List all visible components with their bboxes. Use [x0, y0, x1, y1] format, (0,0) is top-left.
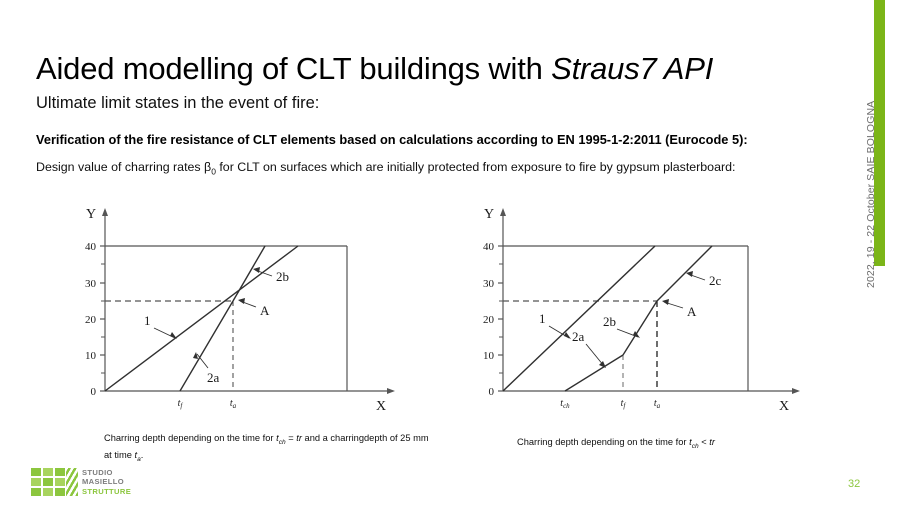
- charring-rate-statement-b: for CLT on surfaces which are initially …: [216, 160, 736, 174]
- caption-left-b: =: [286, 433, 297, 443]
- logo-tile: [43, 468, 53, 476]
- y-axis-label: Y: [484, 207, 494, 222]
- leader-series-2a: [197, 354, 208, 368]
- leader-arrow-2b: [253, 267, 260, 273]
- caption-right-b: <: [699, 437, 710, 447]
- page-number: 32: [848, 478, 860, 490]
- caption-right-t1sub: ch: [692, 443, 699, 450]
- logo-line-1: STUDIO: [82, 468, 131, 477]
- x-tick-label-tch: tch: [560, 398, 570, 410]
- caption-right-a: Charring depth depending on the time for: [517, 437, 689, 447]
- caption-left-c: and a charring: [302, 433, 364, 443]
- series-label-2a: 2a: [207, 370, 220, 385]
- logo-tile: [55, 488, 65, 496]
- logo-tile: [55, 468, 65, 476]
- y-tick-label-10: 10: [483, 350, 495, 362]
- series-label-2b: 2b: [603, 314, 616, 329]
- leader-arrow-1: [564, 332, 571, 339]
- leader-arrow-A: [662, 299, 669, 305]
- figure-right-caption: Charring depth depending on the time for…: [517, 436, 847, 453]
- y-tick-label-0: 0: [489, 386, 495, 398]
- x-axis-label: X: [376, 399, 386, 414]
- series-2b-line: [233, 246, 265, 301]
- logo-hatch-icon: [66, 468, 78, 496]
- verification-statement: Verification of the fire resistance of C…: [36, 132, 748, 147]
- y-tick-label-30: 30: [85, 278, 97, 290]
- y-tick-label-20: 20: [483, 314, 495, 326]
- caption-left-e: .: [141, 450, 144, 460]
- series-2b-line: [623, 301, 657, 355]
- x-axis-arrow: [792, 388, 800, 394]
- caption-left-t1sub: ch: [279, 439, 286, 446]
- event-side-caption: 2022, 19 - 22 October SAIE BOLOGNA: [865, 88, 877, 288]
- annotation-label-A: A: [687, 304, 697, 319]
- logo-tile: [43, 478, 53, 486]
- series-label-1: 1: [144, 313, 151, 328]
- y-axis-arrow: [102, 208, 108, 216]
- logo-line-2: MASIELLO: [82, 477, 131, 486]
- y-tick-label-10: 10: [85, 350, 97, 362]
- x-axis-arrow: [387, 388, 395, 394]
- figure-left-caption: Charring depth depending on the time for…: [104, 432, 434, 466]
- leader-arrow-A: [238, 298, 245, 304]
- charring-rate-statement: Design value of charring rates β0 for CL…: [36, 160, 735, 176]
- series-label-2b: 2b: [276, 269, 289, 284]
- y-tick-label-30: 30: [483, 278, 495, 290]
- page-title: Aided modelling of CLT buildings with St…: [36, 51, 713, 87]
- leader-arrow-1: [170, 332, 177, 339]
- x-tick-label-tf: tf: [621, 398, 627, 410]
- logo-line-3: STRUTTURE: [82, 487, 131, 496]
- y-axis-arrow: [500, 208, 506, 216]
- x-tick-label-ta: ta: [230, 398, 237, 410]
- chart-left-svg: 0 10 20 30 40 Y X tf ta: [60, 196, 400, 426]
- charring-rate-statement-a: Design value of charring rates β: [36, 160, 211, 174]
- leader-arrow-2a: [193, 352, 198, 359]
- series-label-2a: 2a: [572, 329, 585, 344]
- series-label-2c: 2c: [709, 273, 722, 288]
- caption-left-a: Charring depth depending on the time for: [104, 433, 276, 443]
- page-title-italic: Straus7 API: [551, 51, 713, 86]
- figure-right: 0 10 20 30 40 Y X tch tf: [455, 196, 805, 426]
- y-axis-label: Y: [86, 207, 96, 222]
- logo-tile: [43, 488, 53, 496]
- logo-grid-icon: [31, 468, 65, 496]
- y-tick-label-40: 40: [483, 241, 495, 253]
- x-tick-label-tf: tf: [178, 398, 184, 410]
- series-2a-line: [565, 355, 623, 391]
- subheading: Ultimate limit states in the event of fi…: [36, 94, 319, 113]
- logo-tile: [55, 478, 65, 486]
- logo-tile: [31, 478, 41, 486]
- series-label-1: 1: [539, 311, 546, 326]
- logo-tile: [31, 488, 41, 496]
- y-tick-label-20: 20: [85, 314, 97, 326]
- y-tick-label-0: 0: [91, 386, 97, 398]
- y-tick-label-40: 40: [85, 241, 97, 253]
- series-2c-line: [657, 246, 712, 301]
- series-1-line: [503, 246, 655, 391]
- figure-left: 0 10 20 30 40 Y X tf ta: [60, 196, 400, 426]
- series-1-line: [105, 246, 298, 391]
- logo-wordmark: STUDIO MASIELLO STRUTTURE: [82, 468, 131, 496]
- x-tick-label-ta: ta: [654, 398, 661, 410]
- caption-right-t2: tr: [709, 437, 715, 447]
- studio-masiello-logo: STUDIO MASIELLO STRUTTURE: [31, 468, 131, 496]
- annotation-label-A: A: [260, 303, 270, 318]
- logo-tile: [31, 468, 41, 476]
- chart-right-svg: 0 10 20 30 40 Y X tch tf: [455, 196, 805, 426]
- x-axis-label: X: [779, 399, 789, 414]
- page-title-main: Aided modelling of CLT buildings with: [36, 51, 551, 86]
